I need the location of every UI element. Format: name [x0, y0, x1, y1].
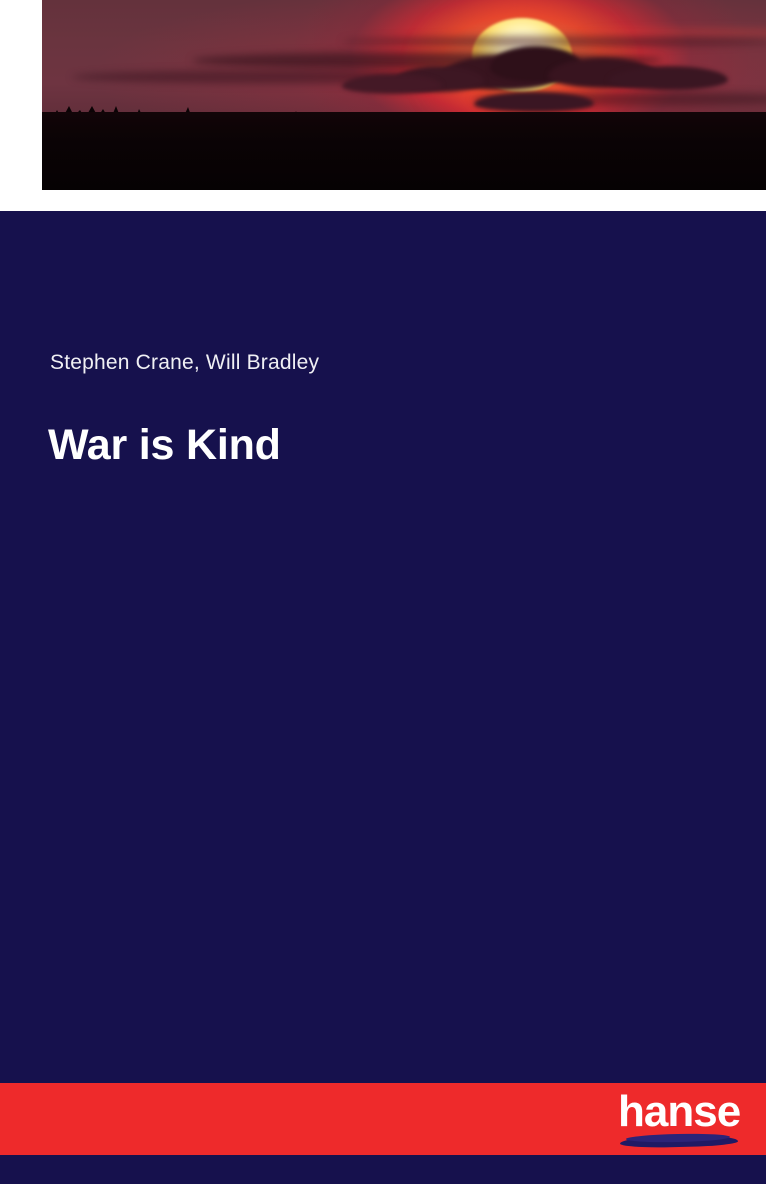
publisher-logo: hanse [618, 1089, 744, 1153]
dark-ground [42, 112, 766, 190]
publisher-logo-text: hanse [618, 1089, 740, 1135]
book-title: War is Kind [48, 421, 281, 470]
author-names: Stephen Crane, Will Bradley [50, 351, 319, 375]
book-cover: Stephen Crane, Will Bradley War is Kind … [0, 0, 766, 1184]
logo-swoosh-icon [620, 1135, 738, 1148]
cover-photo [42, 0, 766, 190]
treeline-silhouette [42, 80, 766, 190]
cloud-band [342, 36, 766, 47]
